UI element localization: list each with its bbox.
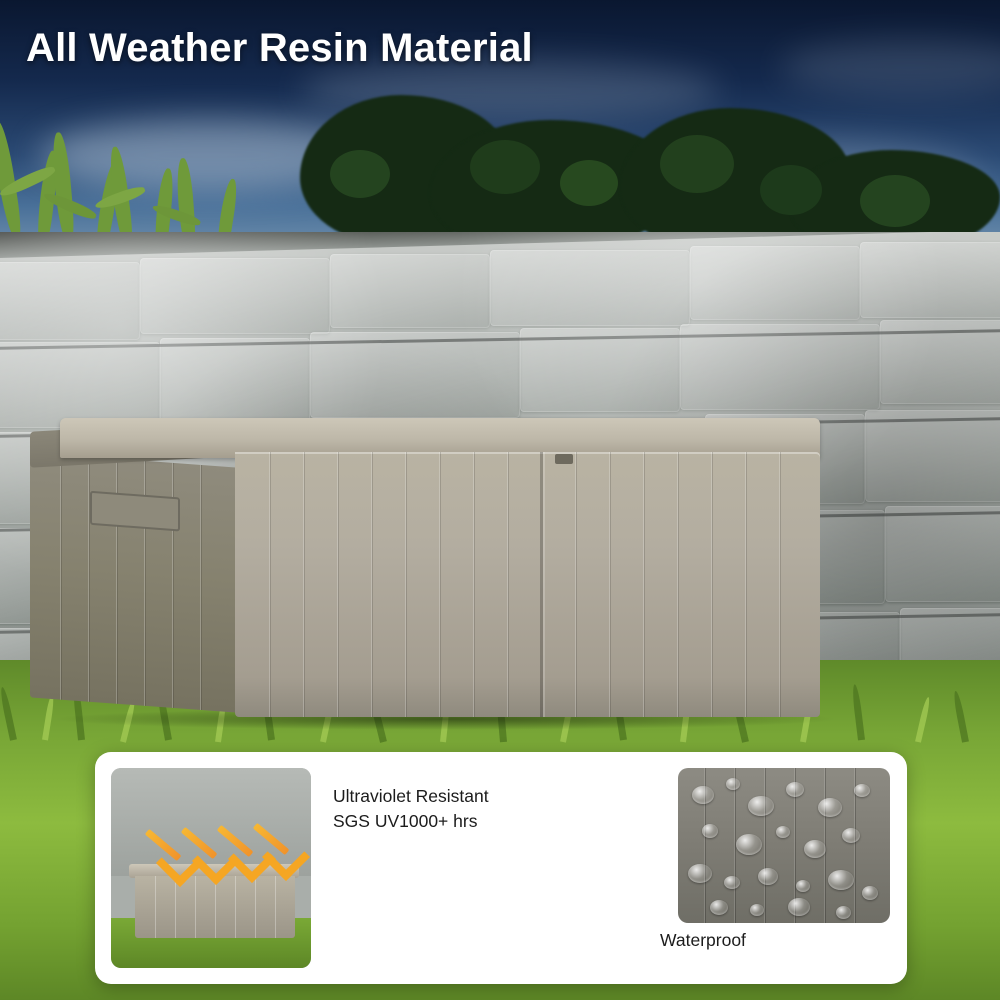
resin-deck-box (30, 418, 820, 738)
box-door-seam (540, 452, 543, 717)
waterproof-thumbnail (678, 768, 890, 923)
cloud (780, 40, 1000, 95)
waterproof-caption: Waterproof (660, 930, 746, 951)
side-handle (90, 491, 180, 532)
box-left-side-panel (30, 452, 237, 712)
page-title: All Weather Resin Material (26, 26, 533, 71)
uv-feature-text: Ultraviolet Resistant SGS UV1000+ hrs (333, 784, 489, 835)
wall-cap (0, 232, 1000, 258)
product-marketing-image: All Weather Resin Material (0, 0, 1000, 1000)
feature-card: Ultraviolet Resistant SGS UV1000+ hrs (95, 752, 907, 984)
uv-feature-line-1: Ultraviolet Resistant (333, 786, 489, 806)
box-latch (555, 454, 573, 464)
box-front-panel (235, 452, 820, 717)
uv-resistance-thumbnail (111, 768, 311, 968)
uv-feature-line-2: SGS UV1000+ hrs (333, 809, 489, 834)
